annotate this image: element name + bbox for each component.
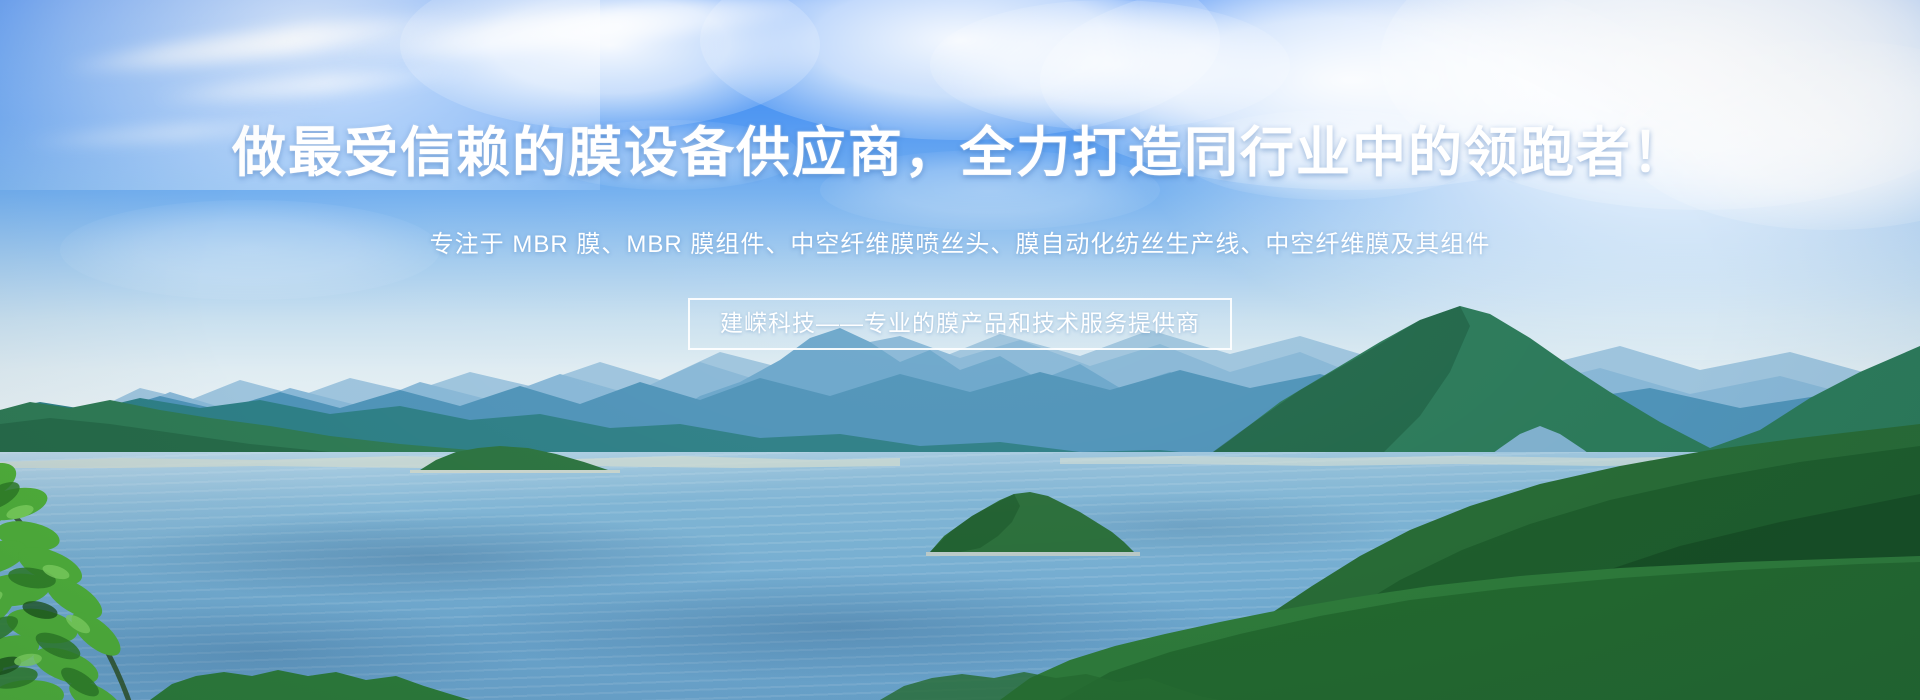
water-sheen	[0, 452, 1920, 700]
water-shadow	[0, 602, 520, 700]
banner-headline: 做最受信赖的膜设备供应商，全力打造同行业中的领跑者！	[0, 122, 1920, 184]
tagline-box: 建嵘科技——专业的膜产品和技术服务提供商	[688, 298, 1232, 350]
water-shadow	[460, 572, 1220, 682]
banner-subtitle: 专注于 MBR 膜、MBR 膜组件、中空纤维膜喷丝头、膜自动化纺丝生产线、中空纤…	[0, 228, 1920, 262]
sky-background	[0, 0, 1920, 420]
water-shadow	[980, 492, 1400, 562]
hero-banner: 做最受信赖的膜设备供应商，全力打造同行业中的领跑者！ 专注于 MBR 膜、MBR…	[0, 0, 1920, 700]
water-shadow	[120, 512, 740, 602]
lake-water	[0, 452, 1920, 700]
tagline-text: 建嵘科技——专业的膜产品和技术服务提供商	[720, 310, 1200, 336]
